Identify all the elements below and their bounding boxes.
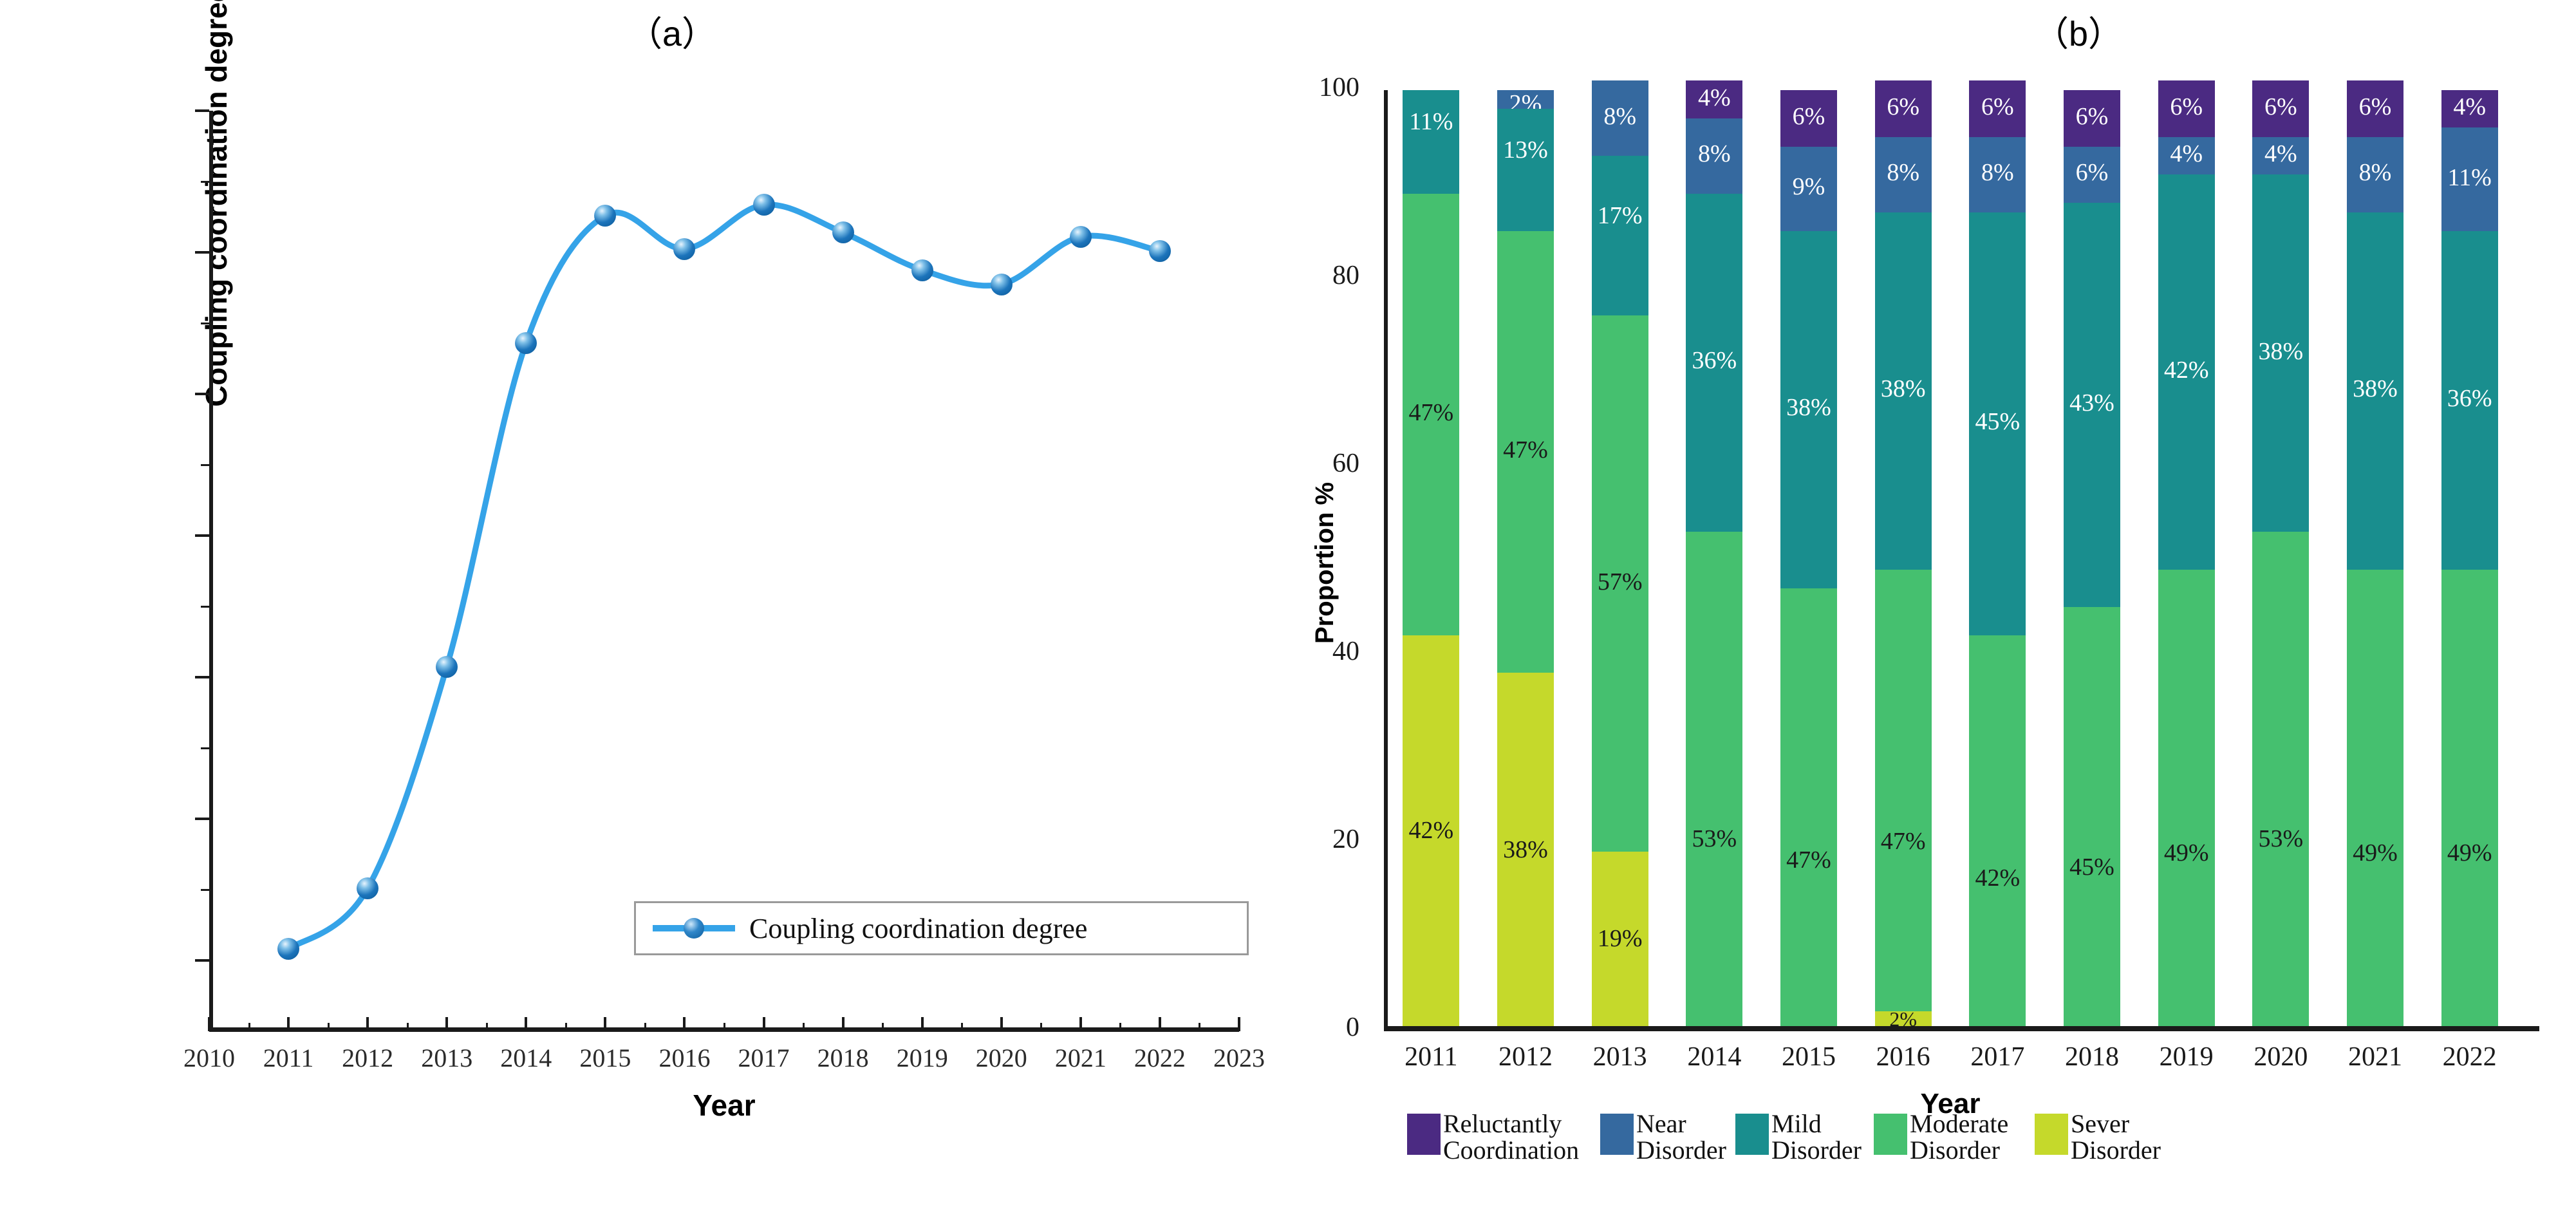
panel-a-x-tick bbox=[921, 1017, 924, 1031]
panel-b-segment-label: 8% bbox=[1969, 160, 2026, 185]
panel-b-y-tick-label: 80 bbox=[1332, 260, 1359, 291]
panel-b-x-tick-label: 2019 bbox=[2160, 1042, 2214, 1072]
panel-a-x-tick bbox=[763, 1017, 765, 1031]
panel-a-y-tick-minor bbox=[201, 323, 209, 324]
panel-b-segment-label: 6% bbox=[2064, 104, 2120, 129]
panel-b-y-axis-title: Proportion % bbox=[1311, 482, 1339, 644]
panel-a-label: （a） bbox=[628, 5, 716, 56]
panel-b-segment-label: 47% bbox=[1497, 438, 1554, 462]
panel-b-bar-segment: 42% bbox=[1969, 635, 2026, 1030]
panel-a-x-tick-label: 2018 bbox=[817, 1043, 869, 1073]
panel-b-y-tick-label: 60 bbox=[1332, 448, 1359, 479]
panel-a-y-tick-minor bbox=[201, 889, 209, 891]
panel-a-data-point bbox=[911, 259, 933, 281]
panel-b-bar-segment: 47% bbox=[1875, 570, 1932, 1011]
panel-a-x-tick bbox=[1079, 1017, 1082, 1031]
panel-b-bar: 42%45%8%6% bbox=[1969, 90, 2026, 1030]
panel-b-segment-label: 47% bbox=[1780, 848, 1837, 872]
legend-color-swatch bbox=[1600, 1114, 1634, 1155]
panel-b-bar-segment: 47% bbox=[1780, 588, 1837, 1030]
panel-b-bar-segment: 8% bbox=[2347, 137, 2403, 212]
panel-b-bar-segment: 38% bbox=[1780, 231, 1837, 588]
panel-a-x-tick-label: 2020 bbox=[976, 1043, 1027, 1073]
panel-b-segment-label: 6% bbox=[2347, 95, 2403, 119]
panel-b-x-tick-label: 2015 bbox=[1782, 1042, 1836, 1072]
panel-b-bar-segment: 6% bbox=[2064, 147, 2120, 203]
panel-b-segment-label: 8% bbox=[1592, 104, 1648, 129]
panel-a-data-point bbox=[436, 656, 458, 678]
panel-a-x-tick-minor bbox=[723, 1023, 725, 1031]
panel-b-bar-segment: 42% bbox=[2158, 174, 2215, 569]
panel-b-bar-segment: 8% bbox=[1592, 80, 1648, 156]
panel-b-segment-label: 45% bbox=[1969, 409, 2026, 434]
panel-b-y-tick-label: 100 bbox=[1319, 72, 1359, 103]
panel-b-bar-segment: 45% bbox=[2064, 607, 2120, 1030]
panel-a-x-tick-label: 2022 bbox=[1134, 1043, 1186, 1073]
panel-b-bar-segment: 38% bbox=[1497, 673, 1554, 1030]
panel-a-x-tick-label: 2014 bbox=[500, 1043, 552, 1073]
panel-a-y-tick bbox=[195, 676, 209, 678]
panel-a-x-tick bbox=[208, 1017, 210, 1031]
panel-b-segment-label: 8% bbox=[2347, 160, 2403, 185]
panel-b-segment-label: 19% bbox=[1592, 926, 1648, 951]
panel-a-y-tick-minor bbox=[201, 464, 209, 466]
panel-b-segment-label: 57% bbox=[1592, 570, 1648, 594]
panel-b-segment-label: 11% bbox=[2441, 165, 2498, 190]
panel-a-x-tick-label: 2012 bbox=[342, 1043, 393, 1073]
panel-a-x-tick-label: 2015 bbox=[579, 1043, 631, 1073]
panel-b-bar-segment: 8% bbox=[1875, 137, 1932, 212]
panel-b-bar-segment: 6% bbox=[2252, 80, 2309, 137]
panel-a-x-tick bbox=[525, 1017, 527, 1031]
panel-a-x-tick-minor bbox=[1040, 1023, 1042, 1031]
panel-b-segment-label: 49% bbox=[2441, 841, 2498, 865]
panel-b-segment-label: 8% bbox=[1686, 142, 1742, 166]
panel-a-x-tick-minor bbox=[1119, 1023, 1121, 1031]
panel-b-legend-item[interactable]: Reluctantly Coordination bbox=[1407, 1111, 1600, 1164]
panel-a-x-tick-label: 2010 bbox=[183, 1043, 235, 1073]
panel-b-x-tick-label: 2020 bbox=[2254, 1042, 2308, 1072]
legend-line-swatch bbox=[653, 925, 735, 931]
panel-b-bar: 42%47%11% bbox=[1403, 90, 1459, 1030]
panel-a-data-point bbox=[753, 194, 775, 216]
panel-b-legend-item[interactable]: Mild Disorder bbox=[1735, 1111, 1874, 1164]
panel-b-bar-segment: 6% bbox=[1875, 80, 1932, 137]
panel-b-bar-segment: 36% bbox=[2441, 231, 2498, 570]
panel-b-label: （b） bbox=[2034, 5, 2123, 56]
panel-b-bar-segment: 6% bbox=[2158, 80, 2215, 137]
panel-b-y-tick-label: 20 bbox=[1332, 824, 1359, 855]
panel-a-x-tick bbox=[604, 1017, 606, 1031]
panel-a-plot-area: Coupling coordination degree bbox=[209, 111, 1239, 1031]
panel-b-segment-label: 47% bbox=[1403, 400, 1459, 425]
panel-b-segment-label: 6% bbox=[1875, 95, 1932, 119]
panel-b-bar-segment: 6% bbox=[2064, 90, 2120, 147]
panel-b-legend-item[interactable]: Near Disorder bbox=[1600, 1111, 1735, 1164]
panel-b-segment-label: 4% bbox=[1686, 86, 1742, 110]
panel-a-x-tick bbox=[1238, 1017, 1240, 1031]
panel-a-x-axis-title: Year bbox=[693, 1088, 755, 1123]
legend-color-swatch bbox=[1874, 1114, 1907, 1155]
panel-b-bar: 53%38%4%6% bbox=[2252, 90, 2309, 1030]
panel-a-data-point bbox=[991, 274, 1013, 295]
panel-b-bar-segment: 6% bbox=[1780, 90, 1837, 147]
panel-a-x-tick-minor bbox=[407, 1023, 409, 1031]
panel-b-bar-segment: 49% bbox=[2158, 570, 2215, 1030]
panel-a-data-point bbox=[594, 205, 616, 227]
panel-a-y-tick-minor bbox=[201, 181, 209, 183]
panel-b-legend-item[interactable]: Sever Disorder bbox=[2035, 1111, 2170, 1164]
panel-b-segment-label: 38% bbox=[1780, 395, 1837, 420]
panel-b-y-tick-label: 40 bbox=[1332, 636, 1359, 667]
panel-b-segment-label: 6% bbox=[2252, 95, 2309, 119]
panel-b-segment-label: 42% bbox=[1403, 818, 1459, 843]
panel-a-data-point bbox=[515, 332, 537, 354]
panel-a-x-tick-minor bbox=[961, 1023, 963, 1031]
panel-a-x-tick bbox=[1000, 1017, 1003, 1031]
panel-b-x-tick-label: 2011 bbox=[1405, 1042, 1457, 1072]
panel-a-y-tick bbox=[195, 818, 209, 820]
legend-color-swatch bbox=[1407, 1114, 1441, 1155]
panel-b-x-axis bbox=[1384, 1026, 2539, 1031]
panel-b-bar-segment: 9% bbox=[1780, 147, 1837, 231]
panel-b-bar-segment: 4% bbox=[1686, 80, 1742, 118]
panel-a-x-tick-minor bbox=[1199, 1023, 1200, 1031]
panel-b-segment-label: 38% bbox=[1875, 377, 1932, 401]
panel-b-x-tick-label: 2022 bbox=[2443, 1042, 2497, 1072]
panel-b-bar: 2%47%38%8%6% bbox=[1875, 90, 1932, 1030]
panel-b-bar-segment: 4% bbox=[2158, 137, 2215, 174]
panel-b-bar-segment: 36% bbox=[1686, 194, 1742, 532]
panel-b-segment-label: 42% bbox=[2158, 358, 2215, 382]
panel-b-bar-segment: 53% bbox=[2252, 532, 2309, 1030]
panel-b-segment-label: 6% bbox=[2064, 160, 2120, 185]
panel-b-x-tick-label: 2021 bbox=[2348, 1042, 2402, 1072]
panel-b-segment-label: 45% bbox=[2064, 855, 2120, 879]
panel-a-x-tick-minor bbox=[486, 1023, 488, 1031]
panel-a-x-tick-label: 2013 bbox=[421, 1043, 472, 1073]
panel-a-y-tick bbox=[195, 251, 209, 254]
panel-b-bar-segment: 17% bbox=[1592, 156, 1648, 315]
panel-b-bar: 19%57%17%8% bbox=[1592, 90, 1648, 1030]
panel-b-segment-label: 43% bbox=[2064, 391, 2120, 415]
panel-a-x-tick bbox=[366, 1017, 369, 1031]
panel-b-y-tick-label: 0 bbox=[1346, 1012, 1359, 1043]
panel-b-bar: 49%38%8%6% bbox=[2347, 90, 2403, 1030]
panel-b-bar-segment: 11% bbox=[2441, 127, 2498, 231]
panel-b-legend-label: Moderate Disorder bbox=[1910, 1111, 2008, 1164]
figure-root: （a） Coupling coordination degree 0.220.2… bbox=[0, 0, 2576, 1225]
panel-a-x-tick-minor bbox=[644, 1023, 646, 1031]
panel-b-segment-label: 36% bbox=[2441, 386, 2498, 411]
panel-b-legend-label: Sever Disorder bbox=[2071, 1111, 2161, 1164]
panel-b-x-tick-label: 2017 bbox=[1970, 1042, 2024, 1072]
panel-a-y-tick bbox=[195, 109, 209, 112]
panel-b-bar-segment: 42% bbox=[1403, 635, 1459, 1030]
panel-b-bar-segment: 8% bbox=[1686, 118, 1742, 194]
panel-b-bar-segment: 4% bbox=[2441, 90, 2498, 127]
panel-b-legend: Reluctantly CoordinationNear DisorderMil… bbox=[1407, 1111, 2170, 1164]
panel-a-data-point bbox=[832, 221, 854, 243]
panel-a-y-tick-minor bbox=[201, 747, 209, 749]
panel-a-data-point bbox=[1149, 240, 1171, 262]
panel-a-y-tick bbox=[195, 959, 209, 962]
panel-a-legend-label: Coupling coordination degree bbox=[749, 912, 1087, 945]
panel-b-segment-label: 47% bbox=[1875, 829, 1932, 854]
panel-a-y-tick bbox=[195, 534, 209, 537]
panel-b-x-tick-label: 2016 bbox=[1876, 1042, 1930, 1072]
panel-a-data-point bbox=[673, 238, 695, 260]
panel-b-bar: 38%47%13%2% bbox=[1497, 90, 1554, 1030]
panel-b-bar: 47%38%9%6% bbox=[1780, 90, 1837, 1030]
panel-a-x-tick bbox=[445, 1017, 448, 1031]
panel-b-legend-label: Reluctantly Coordination bbox=[1443, 1111, 1579, 1164]
panel-b-segment-label: 2% bbox=[1497, 91, 1554, 109]
panel-b-segment-label: 17% bbox=[1592, 203, 1648, 228]
panel-b-bar: 49%36%11%4% bbox=[2441, 90, 2498, 1030]
panel-b-bar-segment: 47% bbox=[1497, 231, 1554, 673]
panel-b-bar-segment: 8% bbox=[1969, 137, 2026, 212]
panel-b-segment-label: 49% bbox=[2347, 841, 2403, 865]
panel-b-bar-segment: 38% bbox=[2347, 212, 2403, 570]
panel-b-segment-label: 6% bbox=[1969, 95, 2026, 119]
panel-b-bar-segment: 57% bbox=[1592, 315, 1648, 851]
panel-b-bar-segment: 11% bbox=[1403, 90, 1459, 194]
panel-b-bar-segment: 13% bbox=[1497, 109, 1554, 231]
panel-b-segment-label: 53% bbox=[2252, 827, 2309, 851]
panel-b-bar-segment: 38% bbox=[1875, 212, 1932, 570]
panel-b-segment-label: 11% bbox=[1403, 109, 1459, 134]
panel-a-x-tick-minor bbox=[803, 1023, 805, 1031]
panel-a-x-tick-label: 2021 bbox=[1055, 1043, 1106, 1073]
panel-a-data-point bbox=[1070, 226, 1092, 248]
panel-b-bar-segment: 19% bbox=[1592, 852, 1648, 1030]
legend-marker-icon bbox=[684, 918, 704, 939]
legend-color-swatch bbox=[1735, 1114, 1769, 1155]
panel-b-segment-label: 6% bbox=[2158, 95, 2215, 119]
panel-b-segment-label: 38% bbox=[2347, 377, 2403, 401]
panel-b-legend-label: Mild Disorder bbox=[1771, 1111, 1862, 1164]
panel-a-y-tick bbox=[195, 393, 209, 395]
panel-b-segment-label: 38% bbox=[1497, 837, 1554, 862]
panel-b-bar-segment: 43% bbox=[2064, 203, 2120, 607]
panel-a-x-tick bbox=[683, 1017, 686, 1031]
panel-b-legend-label: Near Disorder bbox=[1636, 1111, 1726, 1164]
panel-b-segment-label: 38% bbox=[2252, 339, 2309, 364]
panel-b-bar-segment: 53% bbox=[1686, 532, 1742, 1030]
panel-a-x-tick-minor bbox=[882, 1023, 884, 1031]
panel-a-legend[interactable]: Coupling coordination degree bbox=[634, 901, 1249, 955]
panel-b-segment-label: 4% bbox=[2441, 95, 2498, 119]
panel-a-data-point bbox=[357, 877, 378, 899]
panel-b-segment-label: 13% bbox=[1497, 138, 1554, 162]
panel-a-y-tick-minor bbox=[201, 606, 209, 608]
legend-color-swatch bbox=[2035, 1114, 2068, 1155]
panel-b-segment-label: 8% bbox=[1875, 160, 1932, 185]
panel-b-x-tick-label: 2012 bbox=[1498, 1042, 1553, 1072]
panel-a-y-axis bbox=[209, 111, 213, 1031]
panel-b-bar: 53%36%8%4% bbox=[1686, 90, 1742, 1030]
panel-b-segment-label: 36% bbox=[1686, 348, 1742, 373]
panel-b-segment-label: 9% bbox=[1780, 174, 1837, 199]
panel-b-bar-segment: 38% bbox=[2252, 174, 2309, 532]
panel-a-x-tick-label: 2019 bbox=[897, 1043, 948, 1073]
panel-a-x-tick-label: 2017 bbox=[738, 1043, 790, 1073]
panel-b-bar: 49%42%4%6% bbox=[2158, 90, 2215, 1030]
panel-a-x-tick-label: 2011 bbox=[263, 1043, 314, 1073]
panel-a-x-tick-minor bbox=[565, 1023, 567, 1031]
panel-a-x-tick-minor bbox=[248, 1023, 250, 1031]
panel-b-segment-label: 49% bbox=[2158, 841, 2215, 865]
panel-a-x-tick bbox=[1159, 1017, 1161, 1031]
panel-b-y-axis bbox=[1384, 90, 1388, 1030]
panel-b-bar-segment: 45% bbox=[1969, 212, 2026, 635]
panel-a-x-tick-label: 2016 bbox=[658, 1043, 710, 1073]
panel-b-bar: 45%43%6%6% bbox=[2064, 90, 2120, 1030]
panel-b-segment-label: 42% bbox=[1969, 866, 2026, 890]
panel-b-x-tick-label: 2013 bbox=[1593, 1042, 1647, 1072]
panel-a: （a） Coupling coordination degree 0.220.2… bbox=[0, 0, 1287, 1225]
panel-b-x-tick-label: 2018 bbox=[2065, 1042, 2119, 1072]
panel-b-segment-label: 4% bbox=[2158, 142, 2215, 166]
panel-b-segment-label: 6% bbox=[1780, 104, 1837, 129]
panel-b-segment-label: 53% bbox=[1686, 827, 1742, 851]
panel-a-x-tick bbox=[287, 1017, 290, 1031]
panel-a-x-tick-minor bbox=[328, 1023, 330, 1031]
panel-b-x-tick-label: 2014 bbox=[1687, 1042, 1741, 1072]
panel-b: （b） Proportion % 42%47%11%38%47%13%2%19%… bbox=[1287, 0, 2576, 1225]
panel-a-x-tick-label: 2023 bbox=[1213, 1043, 1265, 1073]
panel-b-bar-segment: 49% bbox=[2441, 570, 2498, 1030]
panel-b-bar-segment: 49% bbox=[2347, 570, 2403, 1030]
panel-b-bar-segment: 4% bbox=[2252, 137, 2309, 174]
panel-b-bar-segment: 6% bbox=[1969, 80, 2026, 137]
panel-b-bar-segment: 47% bbox=[1403, 194, 1459, 635]
panel-b-plot-area: 42%47%11%38%47%13%2%19%57%17%8%53%36%8%4… bbox=[1384, 90, 2517, 1030]
panel-b-bar-segment: 2% bbox=[1497, 90, 1554, 109]
panel-a-x-tick bbox=[842, 1017, 845, 1031]
panel-b-bar-segment: 6% bbox=[2347, 80, 2403, 137]
panel-b-segment-label: 4% bbox=[2252, 142, 2309, 166]
panel-b-legend-item[interactable]: Moderate Disorder bbox=[1874, 1111, 2035, 1164]
